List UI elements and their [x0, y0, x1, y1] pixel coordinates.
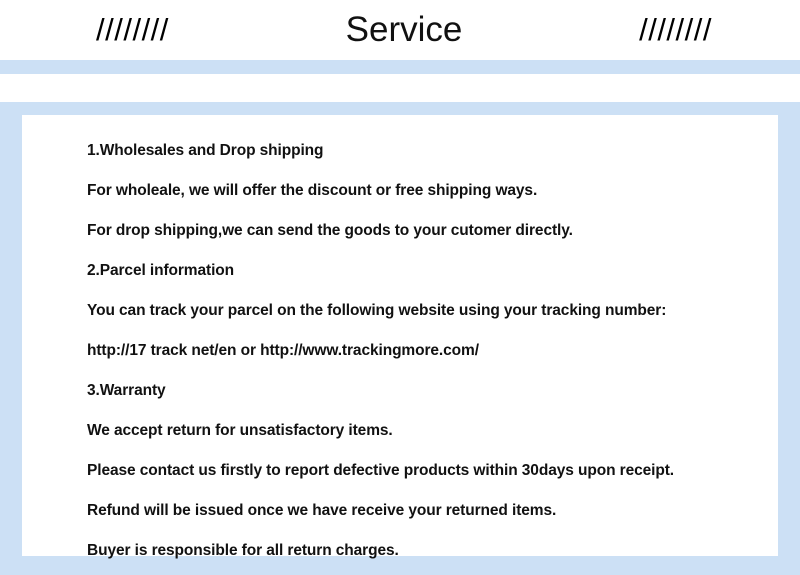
content-line: You can track your parcel on the followi…	[87, 291, 778, 331]
page-header: //////// Service ////////	[0, 0, 800, 60]
content-line: 2.Parcel information	[87, 251, 778, 291]
page-title: Service	[346, 12, 463, 47]
header-inner: //////// Service ////////	[70, 13, 730, 48]
content-line: For drop shipping,we can send the goods …	[87, 211, 778, 251]
content-line: Please contact us firstly to report defe…	[87, 451, 778, 491]
content-line: For wholeale, we will offer the discount…	[87, 171, 778, 211]
header-divider-bar	[0, 60, 800, 74]
left-slash-ornament-icon: ////////	[96, 14, 169, 45]
content-panel-frame: 1.Wholesales and Drop shipping For whole…	[0, 102, 800, 575]
content-line: Buyer is responsible for all return char…	[87, 531, 778, 571]
header-divider-gap	[0, 74, 800, 102]
content-line: 3.Warranty	[87, 371, 778, 411]
content-line: We accept return for unsatisfactory item…	[87, 411, 778, 451]
service-banner-page: //////// Service //////// 1.Wholesales a…	[0, 0, 800, 575]
content-line: 1.Wholesales and Drop shipping	[87, 131, 778, 171]
content-line: http://17 track net/en or http://www.tra…	[87, 331, 778, 371]
content-line: Refund will be issued once we have recei…	[87, 491, 778, 531]
content-panel-body: 1.Wholesales and Drop shipping For whole…	[22, 115, 778, 556]
right-slash-ornament-icon: ////////	[639, 14, 712, 45]
